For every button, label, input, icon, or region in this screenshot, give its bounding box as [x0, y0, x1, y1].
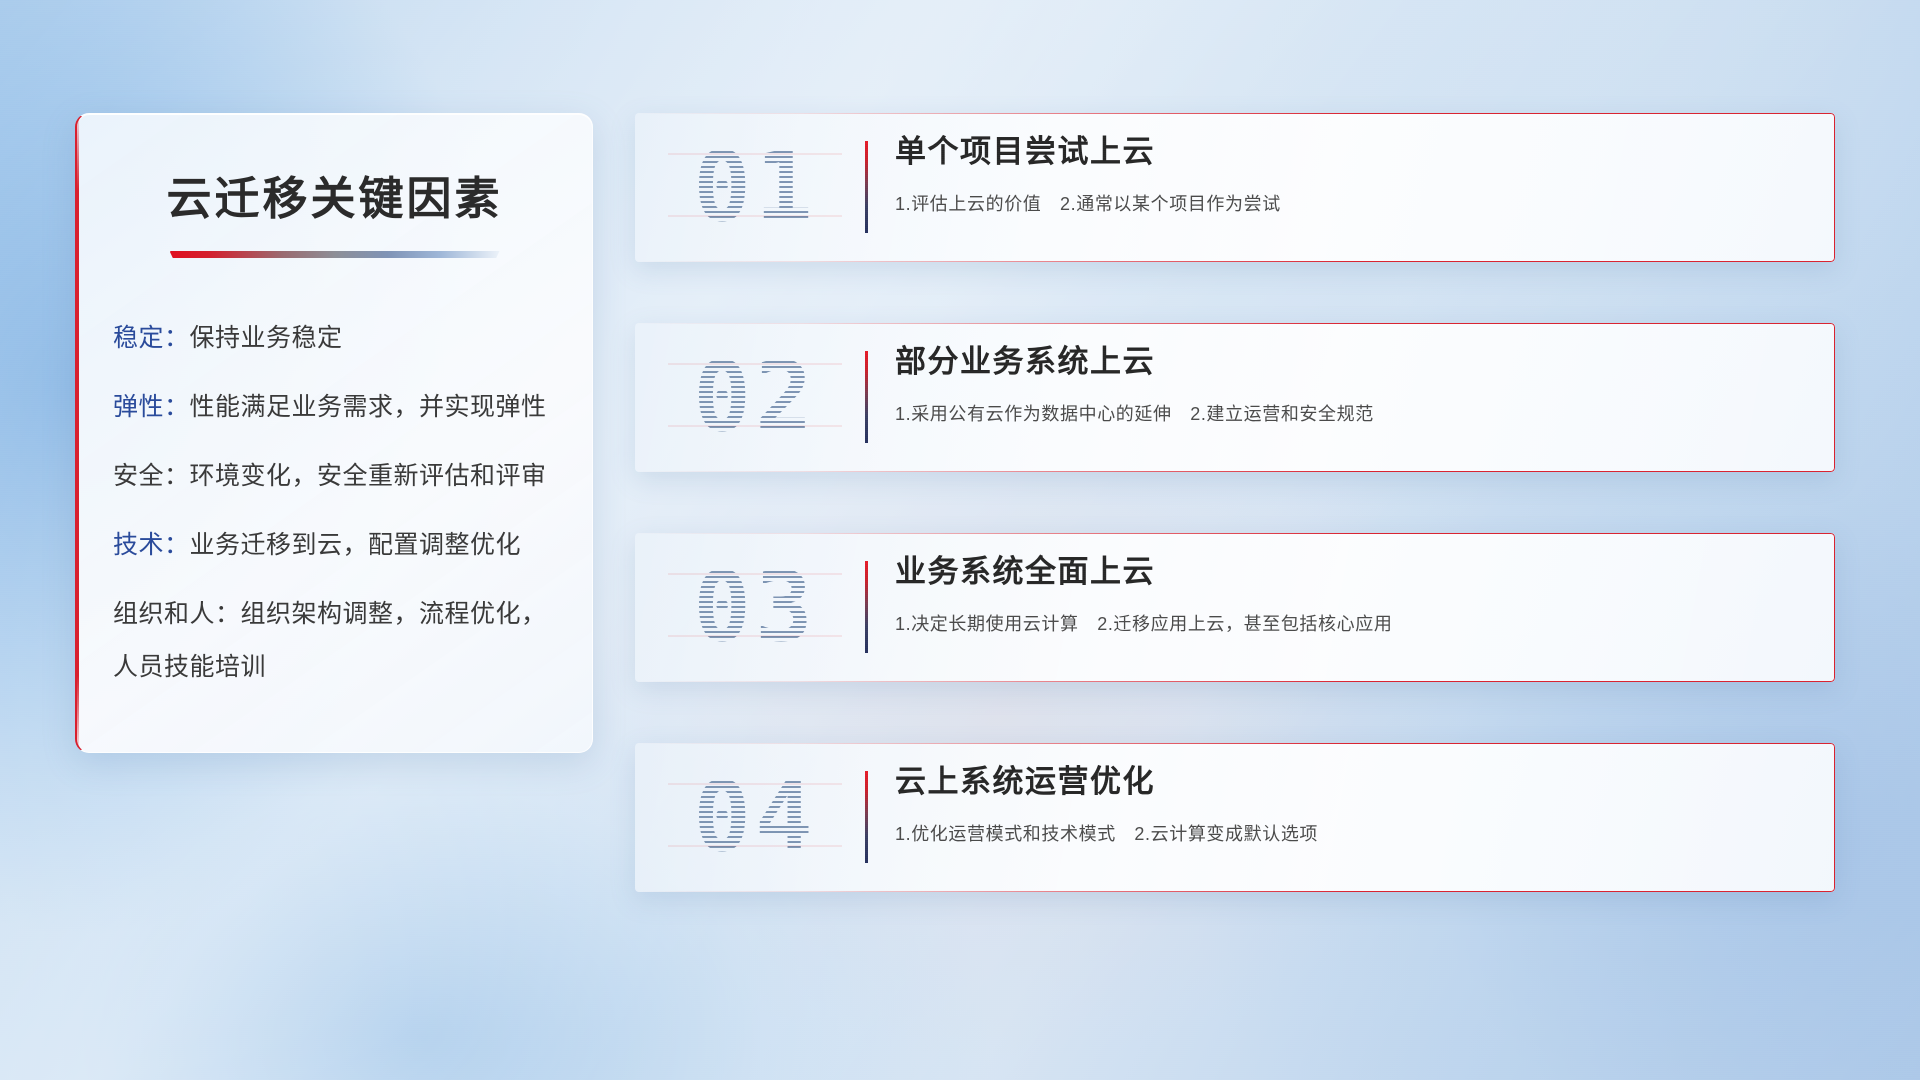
factor-value-technology: 业务迁移到云，配置调整优化 — [190, 531, 522, 559]
step-description-01: 1.评估上云的价值 2.通常以某个项目作为尝试 — [895, 190, 1805, 216]
step-description-02: 1.采用公有云作为数据中心的延伸 2.建立运营和安全规范 — [895, 400, 1805, 426]
page-title: 云迁移关键因素 — [77, 162, 592, 227]
step-number-03: 03 — [660, 547, 850, 667]
factor-value-organization-continued: 人员技能培训 — [113, 653, 266, 681]
step-divider-bar-02 — [865, 351, 868, 443]
factor-label-technology: 技术： — [113, 531, 190, 559]
step-description-04: 1.优化运营模式和技术模式 2.云计算变成默认选项 — [895, 820, 1805, 846]
factor-label-organization: 组织和人： — [113, 600, 241, 628]
factor-row-stability: 稳定：保持业务稳定 — [113, 326, 592, 351]
migration-steps-list: 01 单个项目尝试上云 1.评估上云的价值 2.通常以某个项目作为尝试 02 部… — [635, 113, 1835, 892]
title-underline-rule — [170, 251, 500, 258]
factor-label-security: 安全： — [113, 462, 190, 490]
step-divider-bar-04 — [865, 771, 868, 863]
step-title-03: 业务系统全面上云 — [895, 553, 1805, 592]
step-body-01: 单个项目尝试上云 1.评估上云的价值 2.通常以某个项目作为尝试 — [895, 133, 1805, 216]
factor-value-stability: 保持业务稳定 — [190, 324, 343, 352]
step-number-04: 04 — [660, 757, 850, 877]
factor-row-technology: 技术：业务迁移到云，配置调整优化 — [113, 533, 592, 558]
step-divider-bar-01 — [865, 141, 868, 233]
factor-value-security: 环境变化，安全重新评估和评审 — [190, 462, 547, 490]
step-card-01[interactable]: 01 单个项目尝试上云 1.评估上云的价值 2.通常以某个项目作为尝试 — [635, 113, 1835, 262]
step-card-02[interactable]: 02 部分业务系统上云 1.采用公有云作为数据中心的延伸 2.建立运营和安全规范 — [635, 323, 1835, 472]
slide-canvas: 云迁移关键因素 稳定：保持业务稳定 弹性：性能满足业务需求，并实现弹性 安全：环… — [0, 0, 1920, 1080]
step-title-02: 部分业务系统上云 — [895, 343, 1805, 382]
factor-label-stability: 稳定： — [113, 324, 190, 352]
step-body-02: 部分业务系统上云 1.采用公有云作为数据中心的延伸 2.建立运营和安全规范 — [895, 343, 1805, 426]
step-body-03: 业务系统全面上云 1.决定长期使用云计算 2.迁移应用上云，甚至包括核心应用 — [895, 553, 1805, 636]
step-title-01: 单个项目尝试上云 — [895, 133, 1805, 172]
step-card-04[interactable]: 04 云上系统运营优化 1.优化运营模式和技术模式 2.云计算变成默认选项 — [635, 743, 1835, 892]
factor-label-elasticity: 弹性： — [113, 393, 190, 421]
step-number-01: 01 — [660, 127, 850, 247]
step-card-03[interactable]: 03 业务系统全面上云 1.决定长期使用云计算 2.迁移应用上云，甚至包括核心应… — [635, 533, 1835, 682]
step-description-03: 1.决定长期使用云计算 2.迁移应用上云，甚至包括核心应用 — [895, 610, 1805, 636]
key-factors-list: 稳定：保持业务稳定 弹性：性能满足业务需求，并实现弹性 安全：环境变化，安全重新… — [113, 326, 592, 680]
step-body-04: 云上系统运营优化 1.优化运营模式和技术模式 2.云计算变成默认选项 — [895, 763, 1805, 846]
step-number-02: 02 — [660, 337, 850, 457]
step-title-04: 云上系统运营优化 — [895, 763, 1805, 802]
factor-row-organization-continued: 人员技能培训 — [113, 655, 592, 680]
factor-value-organization: 组织架构调整，流程优化， — [241, 600, 547, 628]
factor-row-organization: 组织和人：组织架构调整，流程优化， — [113, 602, 592, 627]
factor-row-security: 安全：环境变化，安全重新评估和评审 — [113, 464, 592, 489]
key-factors-panel: 云迁移关键因素 稳定：保持业务稳定 弹性：性能满足业务需求，并实现弹性 安全：环… — [75, 113, 593, 753]
factor-row-elasticity: 弹性：性能满足业务需求，并实现弹性 — [113, 395, 592, 420]
factor-value-elasticity: 性能满足业务需求，并实现弹性 — [190, 393, 547, 421]
step-divider-bar-03 — [865, 561, 868, 653]
